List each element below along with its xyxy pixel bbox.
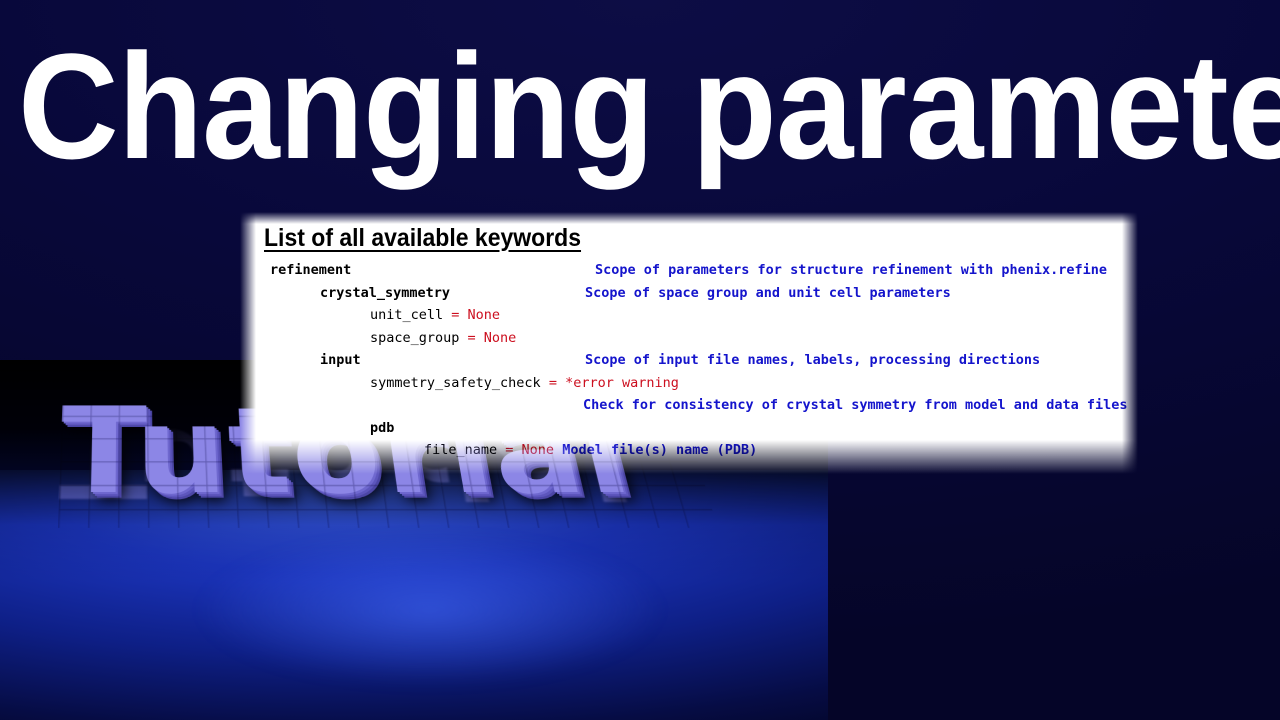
keyword-description: Scope of parameters for structure refine… <box>595 264 1107 277</box>
keyword-value: = *error warning <box>541 375 679 391</box>
tutorial-glow <box>120 510 740 710</box>
slide-stage: Changing parameters Tutorial Tutorial Li… <box>0 0 1280 720</box>
keyword-name: space_group = None <box>370 332 516 345</box>
keyword-row: space_group = None <box>240 332 1138 355</box>
keyword-description: Scope of input file names, labels, proce… <box>585 354 1040 367</box>
keyword-name: unit_cell = None <box>370 309 500 322</box>
keyword-row: crystal_symmetryScope of space group and… <box>240 287 1138 310</box>
page-title: Changing parameters <box>18 34 1181 179</box>
keyword-name: file_name = None Model file(s) name (PDB… <box>424 444 757 457</box>
keyword-panel: List of all available keywords refinemen… <box>240 212 1138 474</box>
keyword-inline-description: Model file(s) name (PDB) <box>554 442 757 458</box>
keyword-row: symmetry_safety_check = *error warning <box>240 377 1138 400</box>
keyword-panel-heading: List of all available keywords <box>264 224 581 253</box>
keyword-name: pdb <box>370 422 394 435</box>
keyword-value: = None <box>497 442 554 458</box>
keyword-row: Check for consistency of crystal symmetr… <box>240 399 1138 422</box>
keyword-description: Scope of space group and unit cell param… <box>585 287 951 300</box>
keyword-name: refinement <box>270 264 351 277</box>
keyword-row: file_name = None Model file(s) name (PDB… <box>240 444 1138 467</box>
keyword-name: crystal_symmetry <box>320 287 450 300</box>
keyword-name: input <box>320 354 361 367</box>
keyword-value: = None <box>459 330 516 346</box>
keyword-name: symmetry_safety_check = *error warning <box>370 377 679 390</box>
keyword-value: = None <box>443 307 500 323</box>
keyword-description: Check for consistency of crystal symmetr… <box>583 399 1128 412</box>
keyword-row: refinementScope of parameters for struct… <box>240 264 1138 287</box>
keyword-row: pdb <box>240 422 1138 445</box>
keyword-row: inputScope of input file names, labels, … <box>240 354 1138 377</box>
keyword-list: refinementScope of parameters for struct… <box>240 264 1138 474</box>
keyword-row: unit_cell = None <box>240 309 1138 332</box>
